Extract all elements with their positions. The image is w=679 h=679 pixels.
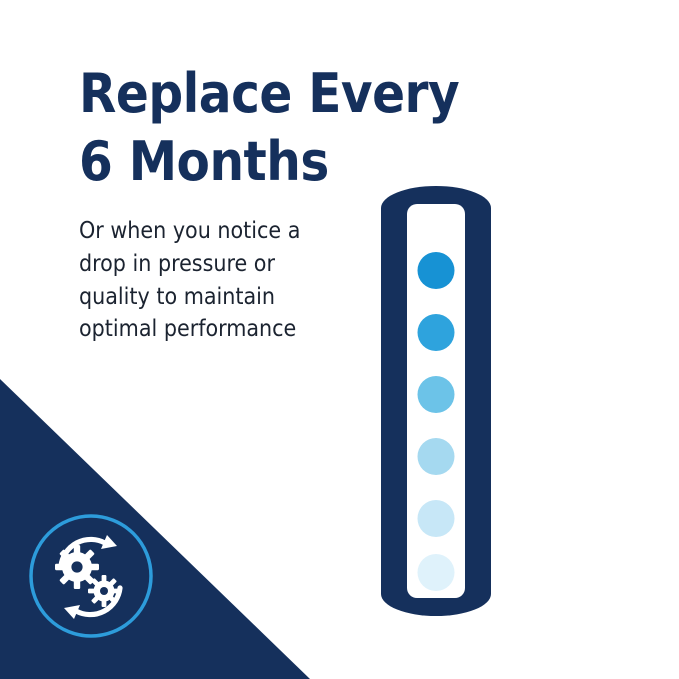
- cartridge-dot: [418, 554, 455, 591]
- cartridge-window: [407, 204, 465, 598]
- headline-line-1: Replace Every: [79, 62, 379, 126]
- maintenance-badge: [27, 512, 155, 640]
- cartridge-dot: [418, 376, 455, 413]
- subtext: Or when you notice a drop in pressure or…: [79, 215, 347, 346]
- gears-refresh-icon: [55, 535, 120, 619]
- text-block: Replace Every 6 Months Or when you notic…: [79, 62, 379, 369]
- badge-ring: [31, 516, 151, 636]
- cartridge-dot: [418, 438, 455, 475]
- cartridge-dot: [418, 314, 455, 351]
- headline-line-2: 6 Months: [79, 130, 379, 194]
- cartridge-dot: [418, 500, 455, 537]
- replace-filter-infographic-card: Replace Every 6 Months Or when you notic…: [0, 0, 679, 679]
- cartridge-dot: [418, 252, 455, 289]
- filter-cartridge-graphic: [381, 186, 491, 616]
